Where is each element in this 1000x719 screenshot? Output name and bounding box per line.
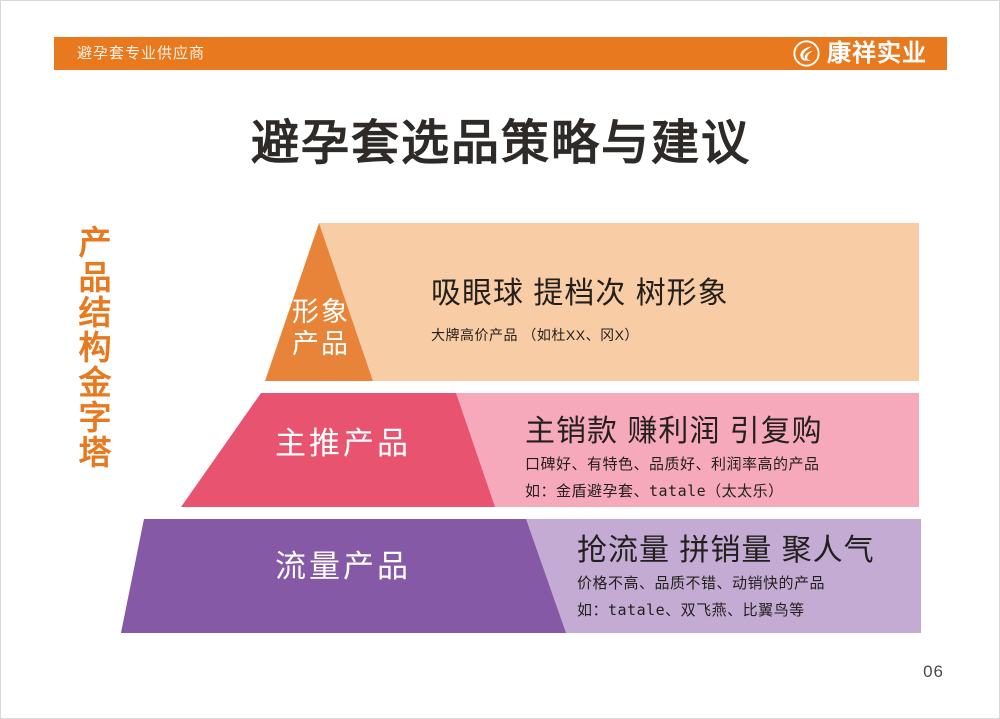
tier-3-content: 抢流量 拼销量 聚人气 价格不高、品质不错、动销快的产品 如：tatale、双飞…: [577, 531, 875, 623]
page-number: 06: [923, 662, 944, 682]
tier-1-line-1: 大牌高价产品 （如杜XX、冈X）: [431, 322, 729, 348]
tier-1-label: 形象 产品: [273, 297, 369, 361]
vertical-section-label: 产品结构金字塔: [61, 225, 111, 470]
tier-3-headline: 抢流量 拼销量 聚人气: [577, 531, 875, 571]
tier-1-content: 吸眼球 提档次 树形象 大牌高价产品 （如杜XX、冈X）: [431, 274, 729, 348]
slide-canvas: 避孕套专业供应商 康祥实业 避孕套选品策略与建议 产品结构金字塔: [0, 0, 1000, 719]
tier-2-label: 主推产品: [245, 426, 441, 463]
tier-3-line-2: 如：tatale、双飞燕、比翼鸟等: [577, 597, 875, 623]
tier-2-headline: 主销款 赚利润 引复购: [525, 412, 823, 452]
tier-2-line-1: 口碑好、有特色、品质好、利润率高的产品: [525, 452, 823, 478]
brand-logo: 康祥实业: [793, 37, 999, 70]
tier-1-headline: 吸眼球 提档次 树形象: [431, 274, 729, 314]
page-title: 避孕套选品策略与建议: [1, 113, 1000, 175]
header-tagline: 避孕套专业供应商: [77, 44, 205, 64]
tier-2-content: 主销款 赚利润 引复购 口碑好、有特色、品质好、利润率高的产品 如：金盾避孕套、…: [525, 412, 823, 504]
tier-2-line-2: 如：金盾避孕套、tatale（太太乐）: [525, 478, 823, 504]
brand-logo-text: 康祥实业: [827, 41, 927, 67]
swirl-circle-logo-icon: [793, 40, 820, 67]
tier-3-label: 流量产品: [241, 549, 445, 586]
tier-3-line-1: 价格不高、品质不错、动销快的产品: [577, 571, 875, 597]
